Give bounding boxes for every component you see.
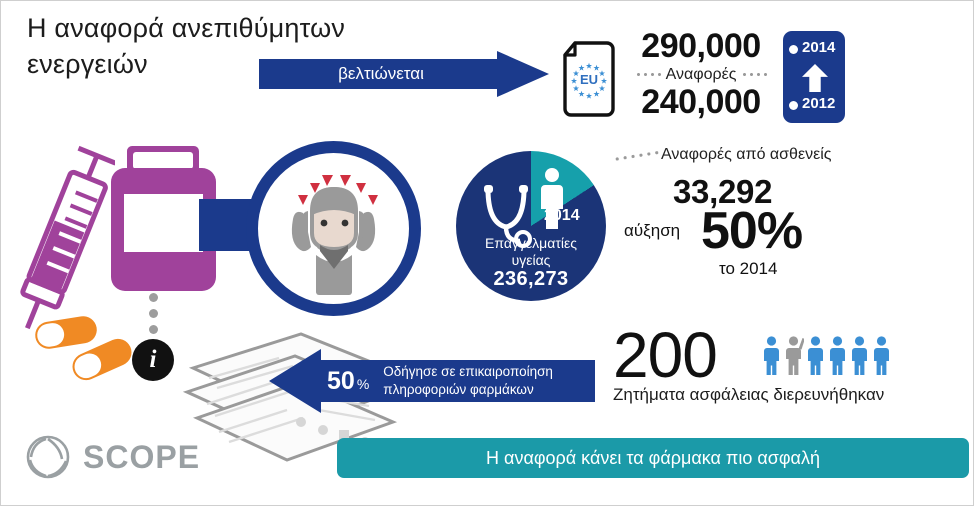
pie-caption-line2: υγείας: [456, 252, 606, 269]
dot-leader-left: [635, 73, 661, 76]
bottom-banner: Η αναφορά κάνει τα φάρμακα πιο ασφαλή: [337, 438, 969, 478]
update-percent-symbol: %: [357, 376, 369, 392]
safety-issues-number: 200: [613, 323, 717, 387]
person-icon: [761, 335, 782, 375]
info-badge-icon: i: [132, 339, 174, 381]
pie-center-value: 236,273: [456, 268, 606, 292]
safety-issues-label: Ζητήματα ασφάλειας διερευνήθηκαν: [613, 385, 884, 405]
headache-person-icon: [258, 153, 409, 304]
eu-document-icon: EU: [561, 41, 619, 117]
badge-dot-top: [789, 45, 798, 54]
pie-wedge-year-label: 2014: [544, 207, 580, 225]
capsule-half: [71, 350, 105, 382]
reports-2012-value: 240,000: [621, 85, 781, 121]
year-comparison-badge: 2014 2012: [783, 31, 845, 123]
capsule-half: [36, 321, 66, 348]
reports-label: Αναφορές: [666, 66, 737, 84]
person-raised-arm-icon: [783, 335, 804, 375]
update-arrow-text: Οδήγησε σε επικαιροποίηση πληροφοριών φα…: [383, 363, 553, 399]
person-icon: [805, 335, 826, 375]
reports-label-row: Αναφορές: [621, 66, 781, 84]
bottle-label: [124, 194, 203, 252]
reports-2014-value: 290,000: [621, 29, 781, 65]
improving-arrow-label: βελτιώνεται: [338, 64, 424, 84]
update-text-line1: Οδήγησε σε επικαιροποίηση: [383, 363, 553, 381]
badge-year-top: 2014: [802, 39, 835, 56]
person-icon: [871, 335, 892, 375]
patient-reports-label: Αναφορές από ασθενείς: [661, 146, 831, 164]
dot-leader-right: [741, 73, 767, 76]
update-percent: 50%: [327, 369, 369, 394]
person-icon: [849, 335, 870, 375]
scope-logo: SCOPE: [23, 429, 213, 485]
update-arrow-banner: 50% Οδήγησε σε επικαιροποίηση πληροφοριώ…: [269, 349, 595, 413]
dot-connector: [149, 325, 158, 334]
pie-center-caption: Επαγγελματίες υγείας 236,273: [456, 235, 606, 292]
reports-source-pie-chart: 2014 Επαγγελματίες υγείας 236,273: [456, 151, 606, 301]
scope-logo-text: SCOPE: [83, 439, 200, 476]
increase-word: αύξηση: [624, 221, 680, 241]
people-icon-row: [761, 335, 892, 375]
adverse-reaction-person-circle: [246, 141, 421, 316]
pie-caption-line1: Επαγγελματίες: [456, 235, 606, 252]
update-text-line2: πληροφοριών φαρμάκων: [383, 381, 553, 399]
infographic-canvas: Η αναφορά ανεπιθύμητων ενεργειών βελτιών…: [1, 1, 973, 505]
reports-figures: 290,000 Αναφορές 240,000: [621, 29, 781, 120]
dot-connector: [149, 309, 158, 318]
increase-year: το 2014: [719, 259, 777, 279]
scope-logo-icon: [23, 432, 73, 482]
up-arrow-icon: [802, 64, 828, 92]
patient-dot-leader: [613, 150, 659, 161]
increase-percent: 50%: [701, 201, 802, 261]
eu-doc-text: EU: [580, 72, 598, 87]
person-icon: [827, 335, 848, 375]
dot-connector: [149, 293, 158, 302]
update-percent-value: 50: [327, 367, 355, 395]
bottom-banner-text: Η αναφορά κάνει τα φάρμακα πιο ασφαλή: [486, 448, 820, 469]
badge-dot-bottom: [789, 101, 798, 110]
badge-year-bottom: 2012: [802, 95, 835, 112]
bottle-cap-highlight: [133, 152, 193, 169]
